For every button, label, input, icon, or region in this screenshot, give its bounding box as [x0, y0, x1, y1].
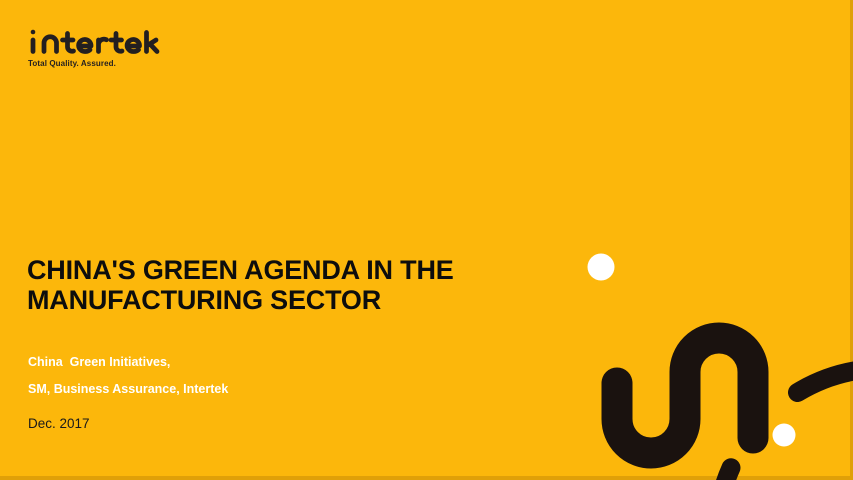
- monogram-in-letterform: [617, 338, 753, 453]
- monogram-i-dot: [588, 254, 615, 281]
- monogram-accent-dot: [773, 424, 796, 447]
- wordmark-i-dot: [31, 30, 36, 35]
- monogram-ring: [716, 368, 853, 480]
- slide-edge-bottom: [0, 476, 853, 480]
- intertek-wordmark-icon: [26, 27, 161, 57]
- subtitle-line-presenter: China Green Initiatives,: [28, 356, 428, 369]
- intertek-in-monogram-watermark: [440, 140, 853, 480]
- subtitle-block: China Green Initiatives, SM, Business As…: [28, 356, 428, 409]
- logo-tagline: Total Quality. Assured.: [28, 60, 216, 68]
- subtitle-line-department: SM, Business Assurance, Intertek: [28, 383, 428, 396]
- title-slide: Total Quality. Assured. CHINA'S GREEN AG…: [0, 0, 853, 480]
- presentation-date: Dec. 2017: [28, 417, 90, 431]
- page-title: CHINA'S GREEN AGENDA IN THE MANUFACTURIN…: [27, 256, 457, 316]
- intertek-logo: Total Quality. Assured.: [26, 27, 216, 68]
